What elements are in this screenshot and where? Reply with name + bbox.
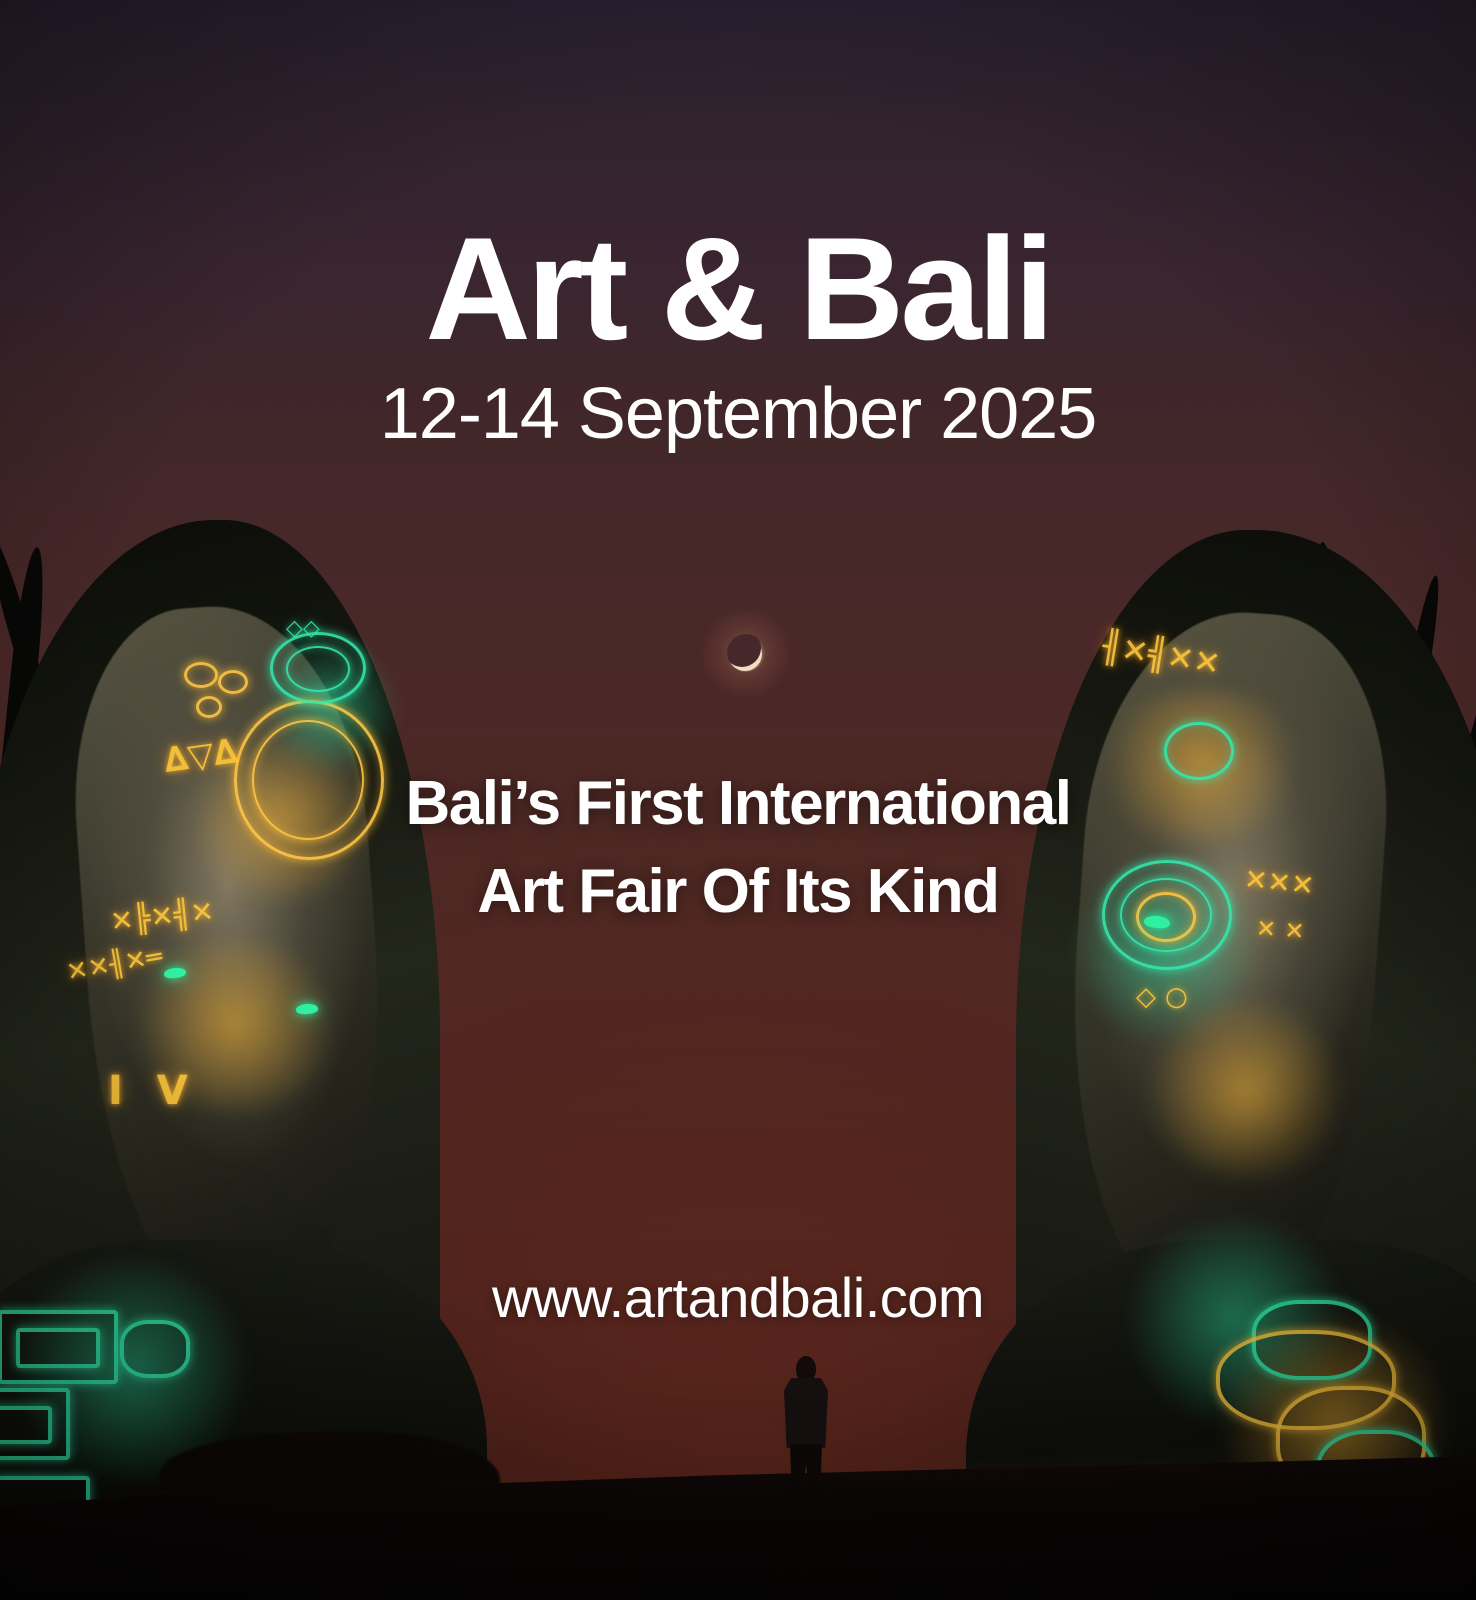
poster-tagline: Bali’s First International Art Fair Of I… [0,760,1476,936]
website-url[interactable]: www.artandbali.com [0,1265,1476,1330]
poster-canvas: ∆▽∆ ✕╠✕╣✕ ✕✕╢✕═ I V ◇◇ [0,0,1476,1600]
tagline-line-2: Art Fair Of Its Kind [0,848,1476,936]
tagline-line-1: Bali’s First International [0,760,1476,848]
poster-title: Art & Bali [0,216,1476,362]
event-dates: 12-14 September 2025 [0,378,1476,450]
text-layer: Art & Bali 12-14 September 2025 Bali’s F… [0,0,1476,1600]
